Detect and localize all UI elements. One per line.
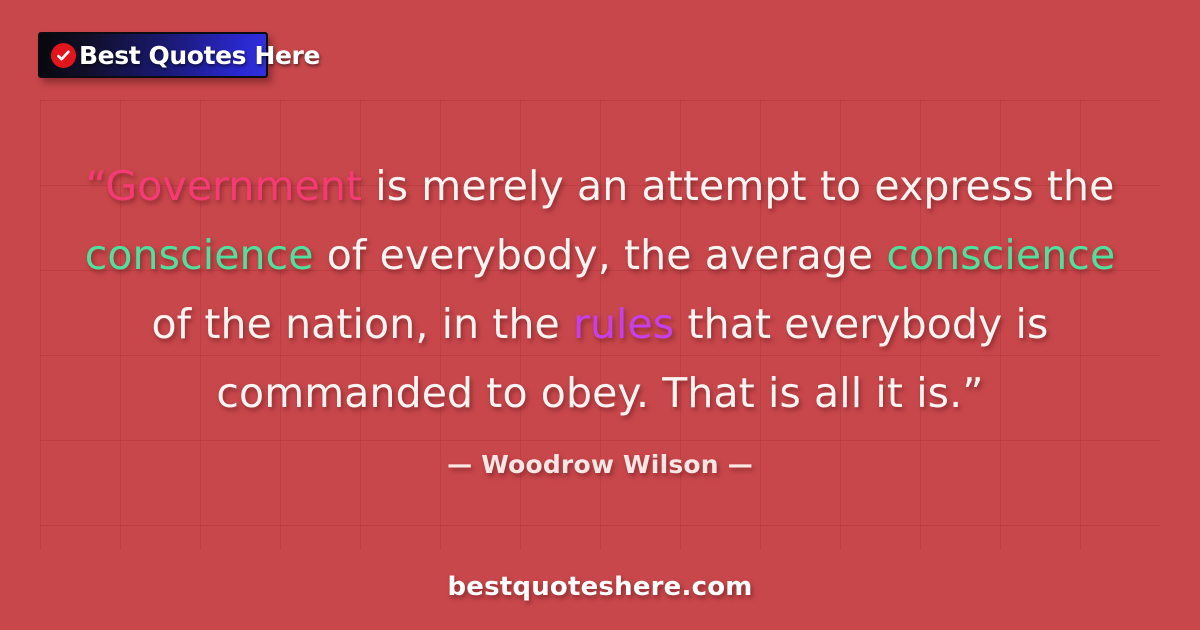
- quote-highlight-conscience-2: conscience: [886, 231, 1115, 279]
- quote-line: commanded to obey. That is all it is.”: [0, 359, 1200, 428]
- quote-line: “Government is merely an attempt to expr…: [0, 152, 1200, 221]
- quote-attribution: — Woodrow Wilson —: [0, 450, 1200, 479]
- quote-segment: of everybody, the average: [314, 231, 887, 279]
- quote-line: of the nation, in the rules that everybo…: [0, 290, 1200, 359]
- quote-highlight-government: “Government: [86, 162, 363, 210]
- quote-highlight-rules: rules: [573, 300, 674, 348]
- quote-text: “Government is merely an attempt to expr…: [0, 152, 1200, 428]
- check-circle-icon: [51, 43, 76, 68]
- brand-badge-label: Best Quotes Here: [79, 41, 320, 70]
- quote-line: conscience of everybody, the average con…: [0, 221, 1200, 290]
- quote-segment: commanded to obey. That is all it is.”: [216, 369, 983, 417]
- quote-segment: is merely an attempt to express the: [362, 162, 1114, 210]
- quote-highlight-conscience-1: conscience: [85, 231, 314, 279]
- brand-badge[interactable]: Best Quotes Here: [38, 32, 268, 78]
- quote-segment: of the nation, in the: [152, 300, 574, 348]
- quote-segment: that everybody is: [674, 300, 1048, 348]
- footer-website-url[interactable]: bestquoteshere.com: [0, 572, 1200, 602]
- quote-card: Best Quotes Here “Government is merely a…: [0, 0, 1200, 630]
